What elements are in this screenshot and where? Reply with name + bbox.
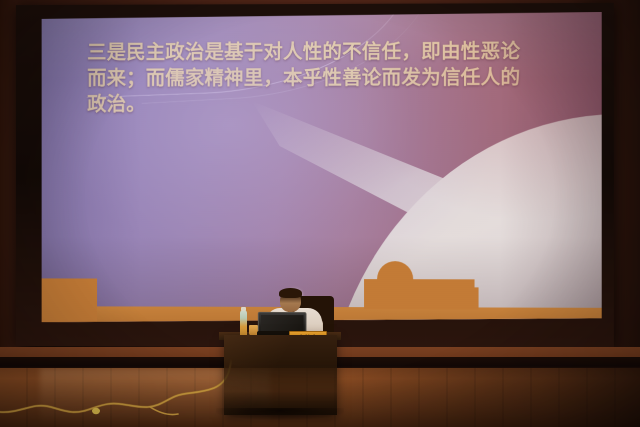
stage-silhouette-rounded-top — [377, 261, 413, 281]
floor-right-shadow — [330, 368, 640, 427]
desk-floor-shadow — [216, 408, 344, 420]
lecture-hall-photo: 三是民主政治是基于对人性的不信任，即由性恶论而来；而儒家精神里，本乎性善论而发为… — [0, 0, 640, 427]
presenter-hair — [279, 288, 302, 298]
lectern-desk — [224, 335, 337, 415]
stage-silhouette-right-block — [444, 287, 478, 309]
desk-face-highlight — [224, 335, 337, 415]
slide-swoosh-shape — [301, 115, 602, 324]
slide-body-text: 三是民主政治是基于对人性的不信任，即由性恶论而来；而儒家精神里，本乎性善论而发为… — [87, 38, 537, 117]
slide-swoosh-tail — [252, 101, 482, 252]
stage-silhouette-center-block — [364, 279, 474, 309]
water-bottle — [240, 310, 247, 337]
stage-silhouette-left-block — [42, 278, 97, 322]
projected-slide: 三是民主政治是基于对人性的不信任，即由性恶论而来；而儒家精神里，本乎性善论而发为… — [42, 12, 602, 324]
water-bottle-cap — [241, 307, 246, 311]
